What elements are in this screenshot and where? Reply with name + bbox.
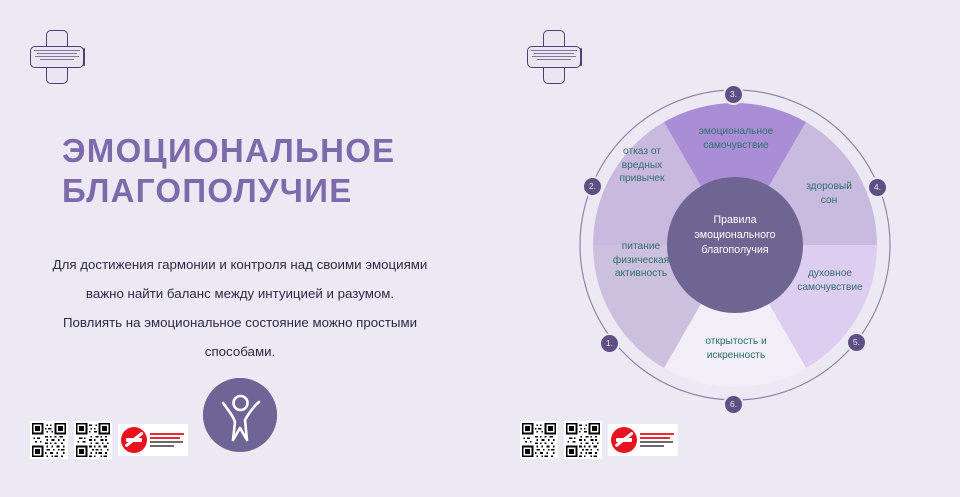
cross-logo-right: Центр общественного здоровья и медицинск… xyxy=(525,28,583,86)
wheel-marker-2[interactable]: 2. xyxy=(584,178,601,195)
qr-code-2[interactable] xyxy=(564,421,602,459)
wheel-marker-4[interactable]: 4. xyxy=(869,179,886,196)
qr-code-2[interactable] xyxy=(74,421,112,459)
cross-logo-tick xyxy=(83,48,85,66)
no-smoking-badge: Нет курению xyxy=(118,424,188,456)
left-panel: Центр общественного здоровья и медицинск… xyxy=(0,0,480,497)
no-smoking-badge: Нет курению xyxy=(608,424,678,456)
footer-badges-left: Нет курению xyxy=(30,421,188,459)
wheel-marker-1[interactable]: 1. xyxy=(601,335,618,352)
wheel-marker-5[interactable]: 5. xyxy=(848,334,865,351)
cross-logo: Центр общественного здоровья и медицинск… xyxy=(28,28,86,86)
no-smoking-icon xyxy=(611,427,637,453)
wheel-hub-label: Правила эмоционального благополучия xyxy=(678,213,792,258)
wheel-marker-3[interactable]: 3. xyxy=(725,86,742,103)
person-figure-emblem xyxy=(203,378,277,452)
wellbeing-wheel-diagram: Правила эмоционального благополучия пита… xyxy=(575,85,895,405)
no-smoking-badge-textlines xyxy=(640,433,674,447)
no-smoking-icon xyxy=(121,427,147,453)
qr-code-1[interactable] xyxy=(520,421,558,459)
page-title: ЭМОЦИОНАЛЬНОЕ БЛАГОПОЛУЧИЕ xyxy=(62,131,462,211)
no-smoking-badge-textlines xyxy=(150,433,184,447)
cross-logo-tick xyxy=(580,48,582,66)
cross-logo-textlines xyxy=(531,50,577,64)
wheel-marker-6[interactable]: 6. xyxy=(725,396,742,413)
footer-badges-right: Нет курению xyxy=(520,421,678,459)
slide-root: Центр общественного здоровья и медицинск… xyxy=(0,0,960,497)
cross-logo-textlines xyxy=(34,50,80,64)
page-body-text: Для достижения гармонии и контроля над с… xyxy=(10,250,470,366)
qr-code-1[interactable] xyxy=(30,421,68,459)
